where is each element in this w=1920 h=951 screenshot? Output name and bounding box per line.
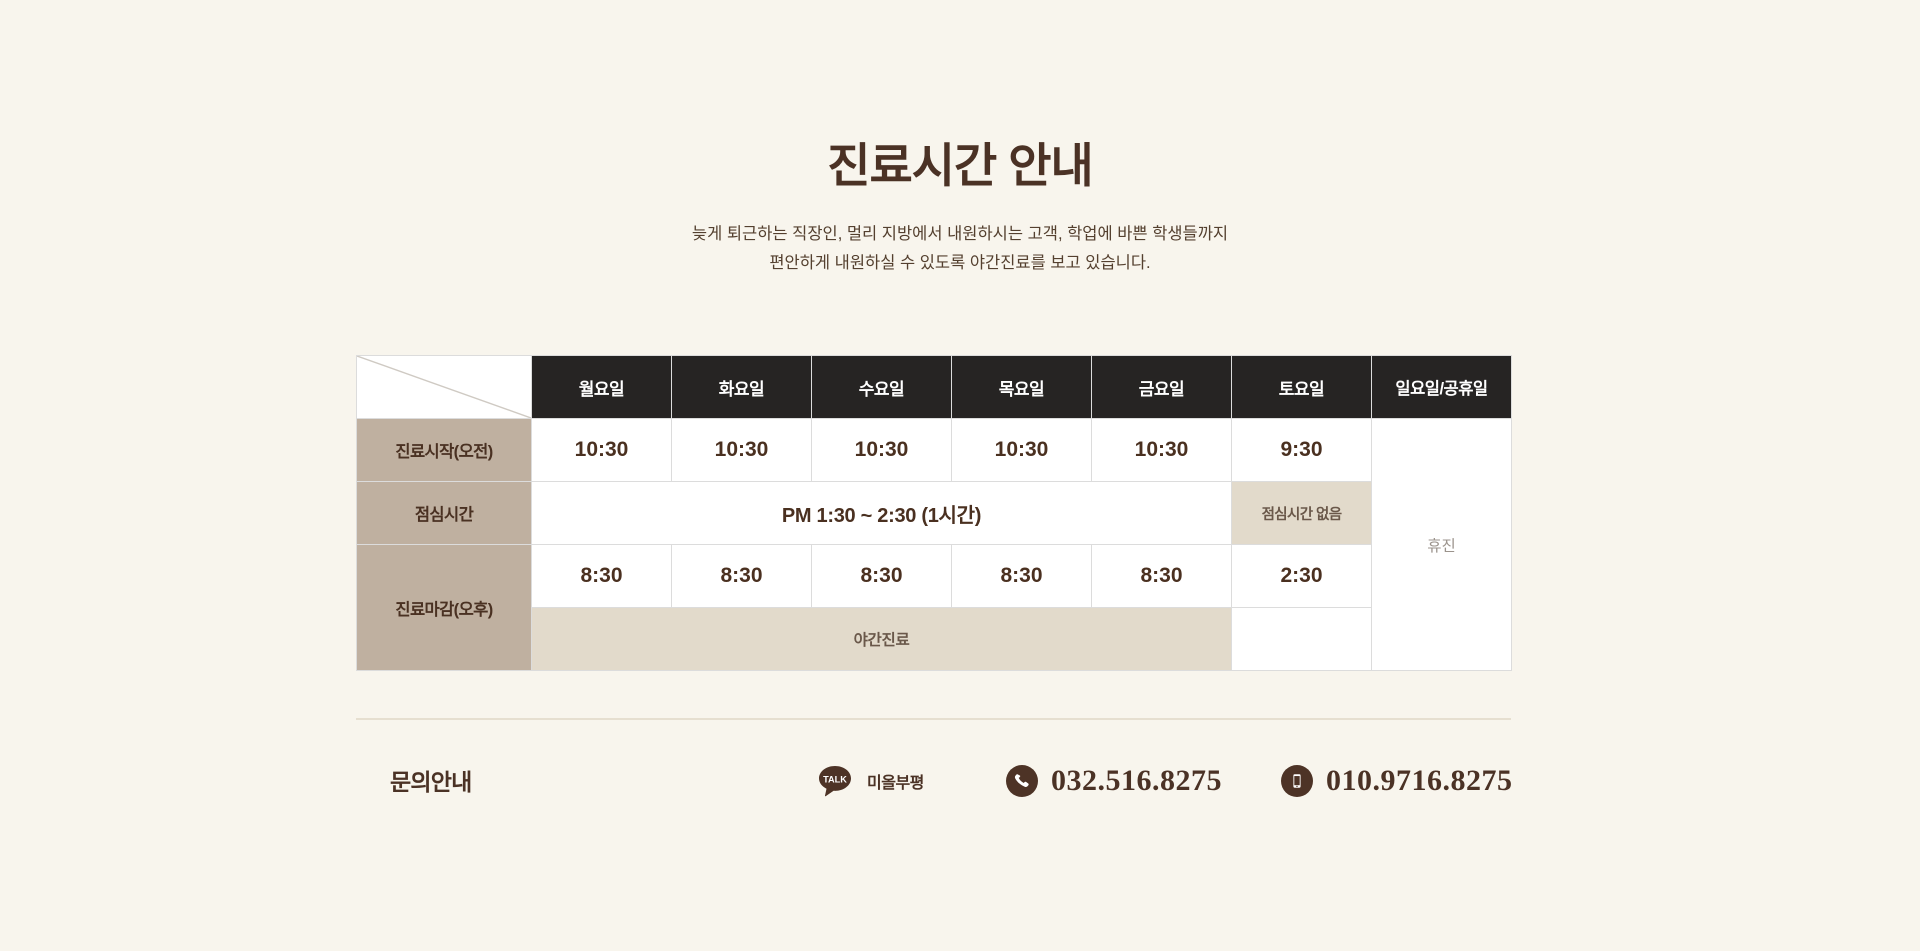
subtitle-line-1: 늦게 퇴근하는 직장인, 멀리 지방에서 내원하시는 고객, 학업에 바쁜 학생…	[0, 220, 1920, 249]
corner-cell	[357, 356, 532, 419]
column-header-tue: 화요일	[672, 356, 812, 419]
cell-open-tue: 10:30	[672, 419, 812, 482]
svg-text:TALK: TALK	[823, 775, 847, 785]
cell-close-tue: 8:30	[672, 545, 812, 608]
column-header-fri: 금요일	[1092, 356, 1232, 419]
cell-close-wed: 8:30	[812, 545, 952, 608]
cell-sunday-closed: 휴진	[1372, 419, 1512, 671]
contact-mobile[interactable]: 010.9716.8275	[1281, 765, 1513, 797]
clinic-hours-page: 진료시간 안내 늦게 퇴근하는 직장인, 멀리 지방에서 내원하시는 고객, 학…	[0, 0, 1920, 951]
table-header-row: 월요일 화요일 수요일 목요일 금요일 토요일 일요일/공휴일	[357, 356, 1512, 419]
phone-icon	[1006, 765, 1038, 797]
column-header-wed: 수요일	[812, 356, 952, 419]
cell-open-thu: 10:30	[952, 419, 1092, 482]
contact-section: 문의안내 TALK 미올부평 032.516.8275	[356, 755, 1516, 815]
section-divider	[356, 718, 1511, 720]
column-header-sat: 토요일	[1232, 356, 1372, 419]
cell-open-sat: 9:30	[1232, 419, 1372, 482]
page-subtitle: 늦게 퇴근하는 직장인, 멀리 지방에서 내원하시는 고객, 학업에 바쁜 학생…	[0, 220, 1920, 278]
contact-heading: 문의안내	[390, 763, 471, 797]
cell-open-wed: 10:30	[812, 419, 952, 482]
cell-open-fri: 10:30	[1092, 419, 1232, 482]
cell-lunch-sat: 점심시간 없음	[1232, 482, 1372, 545]
subtitle-line-2: 편안하게 내원하실 수 있도록 야간진료를 보고 있습니다.	[0, 249, 1920, 278]
page-header: 진료시간 안내 늦게 퇴근하는 직장인, 멀리 지방에서 내원하시는 고객, 학…	[0, 0, 1920, 277]
contact-telephone[interactable]: 032.516.8275	[1006, 765, 1222, 797]
kakaotalk-icon: TALK	[818, 765, 854, 797]
table-row-closing: 진료마감(오후) 8:30 8:30 8:30 8:30 8:30 2:30	[357, 545, 1512, 608]
column-header-thu: 목요일	[952, 356, 1092, 419]
diagonal-slash-icon	[357, 356, 531, 418]
telephone-number: 032.516.8275	[1051, 766, 1222, 796]
mobile-icon	[1281, 765, 1313, 797]
kakao-label: 미올부평	[867, 769, 924, 793]
cell-close-thu: 8:30	[952, 545, 1092, 608]
cell-close-mon: 8:30	[532, 545, 672, 608]
cell-close-fri: 8:30	[1092, 545, 1232, 608]
cell-open-mon: 10:30	[532, 419, 672, 482]
cell-night-clinic-banner: 야간진료	[532, 608, 1232, 671]
schedule-table: 월요일 화요일 수요일 목요일 금요일 토요일 일요일/공휴일 진료시작(오전)…	[356, 355, 1512, 671]
contact-kakao[interactable]: TALK 미올부평	[818, 765, 924, 797]
cell-lunch-weekdays: PM 1:30 ~ 2:30 (1시간)	[532, 482, 1232, 545]
row-label-lunch: 점심시간	[357, 482, 532, 545]
schedule-table-wrapper: 월요일 화요일 수요일 목요일 금요일 토요일 일요일/공휴일 진료시작(오전)…	[356, 355, 1511, 671]
column-header-mon: 월요일	[532, 356, 672, 419]
column-header-sun-holiday: 일요일/공휴일	[1372, 356, 1512, 419]
mobile-number: 010.9716.8275	[1326, 766, 1513, 796]
cell-close-sat: 2:30	[1232, 545, 1372, 608]
table-row-lunch: 점심시간 PM 1:30 ~ 2:30 (1시간) 점심시간 없음	[357, 482, 1512, 545]
row-label-opening: 진료시작(오전)	[357, 419, 532, 482]
row-label-closing: 진료마감(오후)	[357, 545, 532, 671]
cell-night-sat-blank	[1232, 608, 1372, 671]
page-title: 진료시간 안내	[0, 140, 1920, 192]
table-row-opening: 진료시작(오전) 10:30 10:30 10:30 10:30 10:30 9…	[357, 419, 1512, 482]
